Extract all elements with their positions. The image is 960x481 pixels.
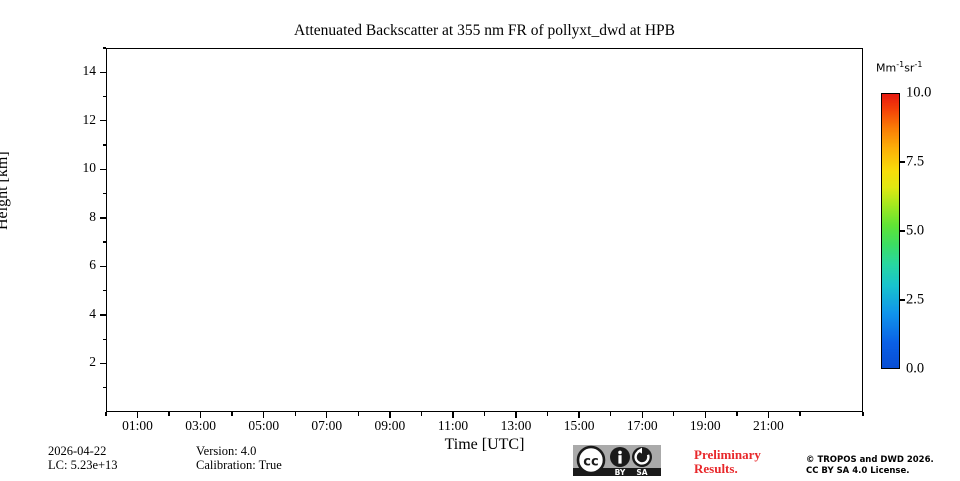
x-axis-minor-tick [736,412,737,416]
x-axis-tick-label: 05:00 [248,418,279,434]
x-axis-tick-label: 01:00 [122,418,153,434]
lidar-quicklook-figure: Attenuated Backscatter at 355 nm FR of p… [0,0,960,480]
y-axis-tick-label: 6 [0,257,96,273]
x-axis-minor-tick [799,412,800,416]
y-axis-tick-label: 12 [0,112,96,128]
y-axis-minor-tick [103,47,107,48]
colorbar-tick [900,299,905,300]
x-axis-minor-tick [610,412,611,416]
x-axis-minor-tick [231,412,232,416]
colorbar-unit-exp1: -1 [896,60,904,69]
x-axis-tick-label: 03:00 [185,418,216,434]
y-axis-label: Height [km] [0,151,12,230]
x-axis-minor-tick [295,412,296,416]
y-axis-tick [100,363,106,364]
footer-version: Version: 4.0 [196,444,256,459]
x-axis-minor-tick [358,412,359,416]
y-axis-minor-tick [103,144,107,145]
x-axis-tick-label: 13:00 [501,418,532,434]
copyright-notice: © TROPOS and DWD 2026. CC BY SA 4.0 Lice… [806,455,934,477]
y-axis-minor-tick [103,290,107,291]
x-axis-minor-tick [673,412,674,416]
y-axis-tick [100,169,106,170]
x-axis-minor-tick [547,412,548,416]
y-axis-tick [100,266,106,267]
footer-calibration: Calibration: True [196,458,282,473]
y-axis-tick [100,72,106,73]
cc-by-sa-icon: cc BY SA [573,445,661,476]
footer-lidar-constant: LC: 5.23e+13 [48,458,118,473]
x-axis-minor-tick [862,412,863,416]
x-axis-tick-label: 21:00 [753,418,784,434]
preliminary-results-note: Preliminary Results. [694,448,761,476]
colorbar-tick-label: 10.0 [906,85,931,102]
page-title: Attenuated Backscatter at 355 nm FR of p… [106,22,863,40]
y-axis-minor-tick [103,193,107,194]
x-axis-tick-label: 17:00 [627,418,658,434]
colorbar-unit-mm: Mm [876,62,896,75]
y-axis-tick-label: 8 [0,209,96,225]
colorbar-unit-label: Mm-1sr-1 [876,60,922,75]
x-axis-tick-label: 07:00 [311,418,342,434]
cc-by-sa-license-badge[interactable]: cc BY SA [573,445,661,476]
y-axis-tick [100,120,106,121]
x-axis-tick-label: 09:00 [374,418,405,434]
colorbar-tick-label: 7.5 [906,154,924,171]
y-axis-minor-tick [103,241,107,242]
cc-by-text: BY [615,468,626,476]
copyright-line-1: © TROPOS and DWD 2026. [806,455,934,466]
colorbar-tick-label: 2.5 [906,292,924,309]
preliminary-line-2: Results. [694,462,761,476]
colorbar-tick-label: 5.0 [906,223,924,240]
y-axis-minor-tick [103,387,107,388]
y-axis-tick-label: 10 [0,160,96,176]
colorbar-unit-sr: sr [904,62,914,75]
preliminary-line-1: Preliminary [694,448,761,462]
copyright-line-2: CC BY SA 4.0 License. [806,466,934,477]
cc-sa-text: SA [636,468,647,476]
x-axis-tick-label: 19:00 [690,418,721,434]
colorbar-gradient [882,94,899,368]
y-axis-tick-label: 4 [0,306,96,322]
x-axis-minor-tick [484,412,485,416]
x-axis-tick-label: 15:00 [564,418,595,434]
colorbar-unit-exp2: -1 [914,60,922,69]
colorbar-tick [900,161,905,162]
x-axis-minor-tick [168,412,169,416]
y-axis-minor-tick [103,339,107,340]
plot-axes-frame [106,48,863,412]
x-axis-tick-label: 11:00 [438,418,468,434]
y-axis-tick-label: 2 [0,354,96,370]
y-axis-tick-label: 14 [0,63,96,79]
y-axis-minor-tick [103,96,107,97]
x-axis-minor-tick [421,412,422,416]
x-axis-minor-tick [105,412,106,416]
svg-text:cc: cc [583,455,598,470]
colorbar-tick-label: 0.0 [906,361,924,378]
colorbar-tick [900,230,905,231]
colorbar [881,93,900,369]
footer-date: 2026-04-22 [48,444,106,459]
y-axis-tick [100,217,106,218]
y-axis-tick [100,314,106,315]
